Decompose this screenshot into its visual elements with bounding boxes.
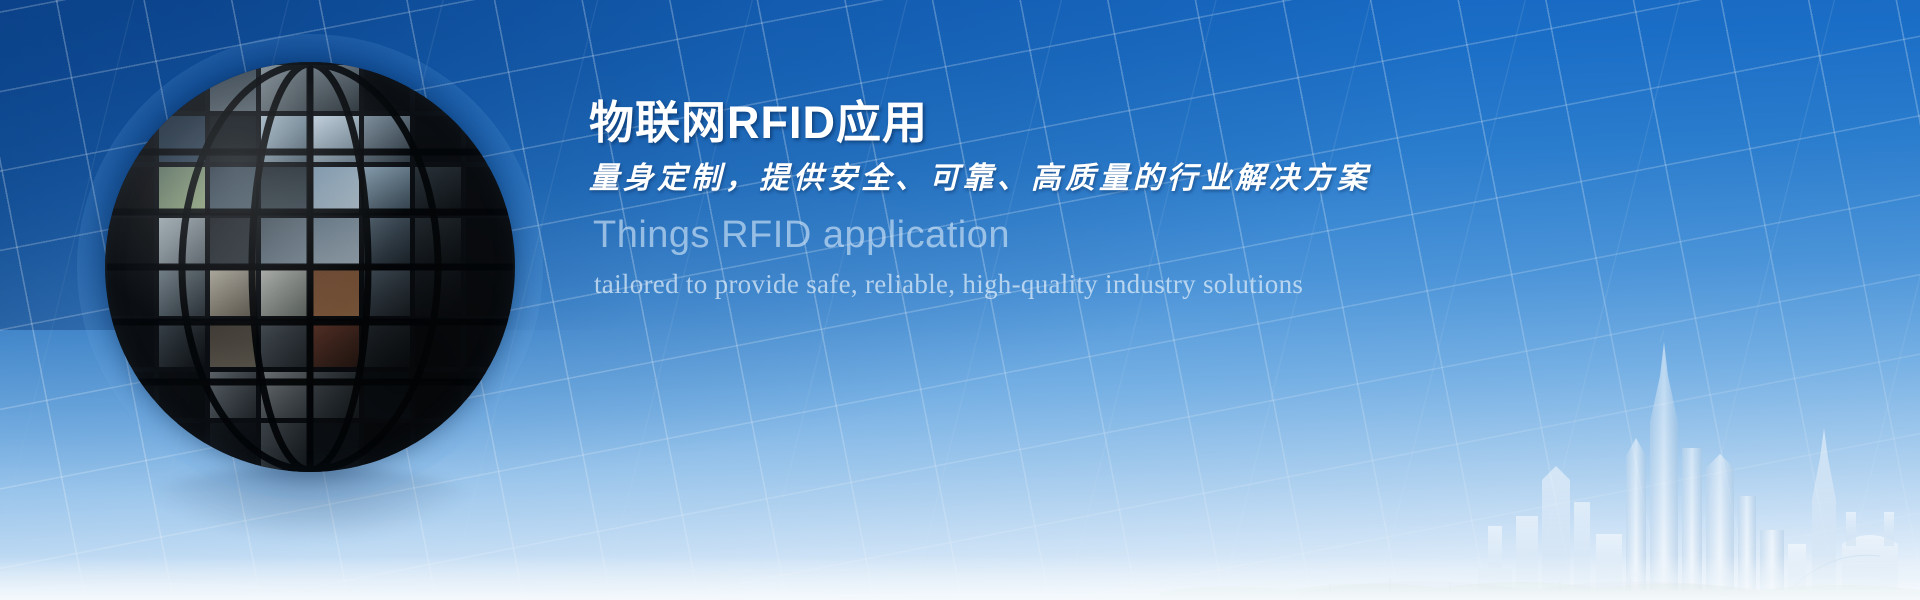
globe-tile — [159, 423, 205, 469]
banner-tagline-english: tailored to provide safe, reliable, high… — [594, 268, 1589, 300]
globe-tile — [466, 116, 512, 162]
globe-tile — [313, 116, 359, 162]
globe-tile — [364, 65, 410, 111]
globe-tile — [364, 321, 410, 367]
globe-tile — [313, 423, 359, 469]
globe-tile — [210, 167, 256, 213]
globe-tile — [364, 218, 410, 264]
globe-tile — [210, 372, 256, 418]
globe-tile — [313, 270, 359, 316]
globe-tile — [415, 321, 461, 367]
globe-tile — [466, 423, 512, 469]
globe-tile — [466, 321, 512, 367]
globe-tile — [261, 270, 307, 316]
globe-tile — [108, 423, 154, 469]
globe-graphic — [105, 62, 515, 472]
globe-tile — [415, 423, 461, 469]
globe-tile — [159, 167, 205, 213]
globe-tile — [364, 372, 410, 418]
globe-tile — [108, 65, 154, 111]
globe-tile — [313, 218, 359, 264]
globe-tile — [415, 167, 461, 213]
globe-tile — [261, 167, 307, 213]
globe-tile — [210, 65, 256, 111]
banner-title: 物联网RFID应用 — [589, 98, 1589, 148]
globe-tile — [108, 218, 154, 264]
hero-banner: 物联网RFID应用 量身定制，提供安全、可靠、高质量的行业解决方案 Things… — [0, 0, 1920, 600]
globe-tile — [159, 321, 205, 367]
globe-tile — [159, 270, 205, 316]
globe-tile — [210, 218, 256, 264]
globe-tile — [108, 270, 154, 316]
globe-tile — [415, 65, 461, 111]
globe-tile — [159, 65, 205, 111]
globe-tile — [313, 167, 359, 213]
banner-subtitle-chinese: 量身定制，提供安全、可靠、高质量的行业解决方案 — [589, 159, 1589, 198]
globe-tile — [261, 372, 307, 418]
globe-tile — [364, 116, 410, 162]
globe-tile — [108, 372, 154, 418]
globe-tile-grid — [105, 62, 515, 472]
globe-tile — [210, 116, 256, 162]
globe-tile — [466, 218, 512, 264]
banner-subtitle-english: Things RFID application — [593, 214, 1589, 258]
globe-tile — [313, 372, 359, 418]
globe-tile — [261, 65, 307, 111]
globe-tile — [159, 218, 205, 264]
globe-tile — [415, 116, 461, 162]
globe-tile — [261, 116, 307, 162]
globe-tile — [261, 423, 307, 469]
globe-tile — [108, 321, 154, 367]
globe-tile — [415, 372, 461, 418]
photo-mosaic-globe — [105, 62, 515, 472]
globe-tile — [466, 270, 512, 316]
globe-tile — [261, 218, 307, 264]
globe-tile — [415, 218, 461, 264]
globe-tile — [210, 270, 256, 316]
globe-tile — [210, 423, 256, 469]
globe-tile — [364, 270, 410, 316]
globe-tile — [210, 321, 256, 367]
globe-tile — [261, 321, 307, 367]
globe-tile — [364, 167, 410, 213]
globe-tile — [466, 167, 512, 213]
globe-tile — [415, 270, 461, 316]
globe-tile — [313, 321, 359, 367]
banner-copy: 物联网RFID应用 量身定制，提供安全、可靠、高质量的行业解决方案 Things… — [589, 98, 1589, 300]
globe-tile — [313, 65, 359, 111]
globe-tile — [466, 65, 512, 111]
globe-tile — [159, 372, 205, 418]
globe-tile — [364, 423, 410, 469]
globe-tile — [466, 372, 512, 418]
globe-tile — [108, 167, 154, 213]
globe-tile — [159, 116, 205, 162]
globe-tile — [108, 116, 154, 162]
